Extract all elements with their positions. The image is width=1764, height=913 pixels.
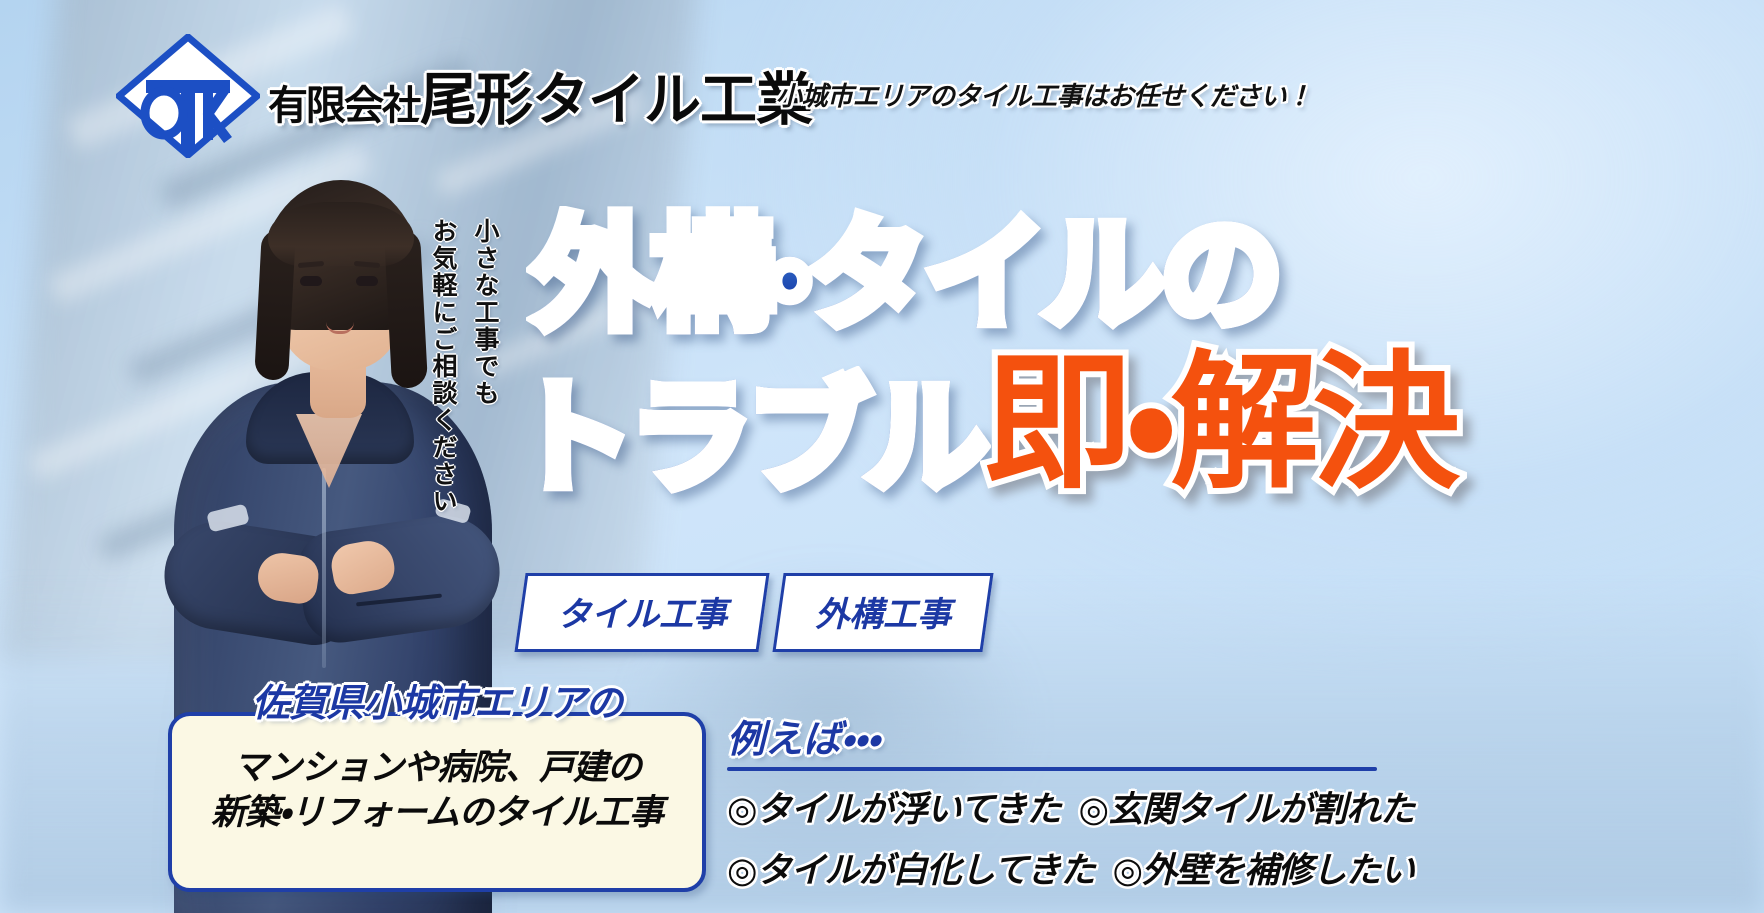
service-pill-exterior-work[interactable]: 外構工事 [772, 573, 993, 652]
service-pill-group: タイル工事 外構工事 [520, 573, 988, 652]
company-name-main: 尾形タイル工業 [420, 69, 812, 132]
hero-banner: 有限会社尾形タイル工業 小城市エリアのタイル工事はお任せください！ 小さな工事で… [0, 0, 1764, 913]
vertical-copy-line-2: お気軽にご相談ください [425, 218, 461, 515]
example-item: ◎タイルが浮いてきた [727, 781, 1060, 832]
vertical-catch-copy: 小さな工事でも お気軽にご相談ください [425, 218, 503, 515]
examples-row: ◎タイルが浮いてきた ◎玄関タイルが割れた [727, 781, 1387, 832]
examples-row: ◎タイルが白化してきた ◎外壁を補修したい [727, 842, 1387, 893]
service-area-card: マンションや病院、戸建の 新築・リフォームのタイル工事 佐賀県小城市エリアの [168, 712, 706, 892]
service-area-card-line-2: 新築・リフォームのタイル工事 [168, 791, 706, 836]
examples-divider [727, 767, 1377, 771]
vertical-copy-line-1: 小さな工事でも [467, 218, 503, 515]
service-area-card-body: マンションや病院、戸建の 新築・リフォームのタイル工事 [168, 746, 706, 836]
service-pill-label: 外構工事 [815, 587, 951, 636]
example-item: ◎タイルが白化してきた [727, 842, 1094, 893]
examples-title: 例えば・・・ [727, 708, 1387, 763]
examples-section: 例えば・・・ ◎タイルが浮いてきた ◎玄関タイルが割れた ◎タイルが白化してきた… [727, 708, 1387, 893]
company-name-prefix: 有限会社 [268, 83, 420, 128]
example-item: ◎外壁を補修したい [1112, 842, 1414, 893]
staff-uniform-zipper [322, 468, 326, 668]
company-name: 有限会社尾形タイル工業 [268, 54, 812, 136]
staff-eye-right [356, 276, 378, 286]
staff-eye-left [300, 276, 322, 286]
service-pill-label: タイル工事 [557, 587, 727, 636]
example-item: ◎玄関タイルが割れた [1078, 781, 1414, 832]
service-pill-tile-work[interactable]: タイル工事 [514, 573, 769, 652]
banner-header: 有限会社尾形タイル工業 小城市エリアのタイル工事はお任せください！ [0, 0, 1764, 160]
service-area-card-line-1: マンションや病院、戸建の [168, 746, 706, 791]
service-area-card-label: 佐賀県小城市エリアの [252, 672, 622, 727]
header-tagline: 小城市エリアのタイル工事はお任せください！ [776, 76, 1312, 113]
otk-diamond-logo-icon [116, 34, 260, 158]
staff-bangs [268, 202, 414, 266]
